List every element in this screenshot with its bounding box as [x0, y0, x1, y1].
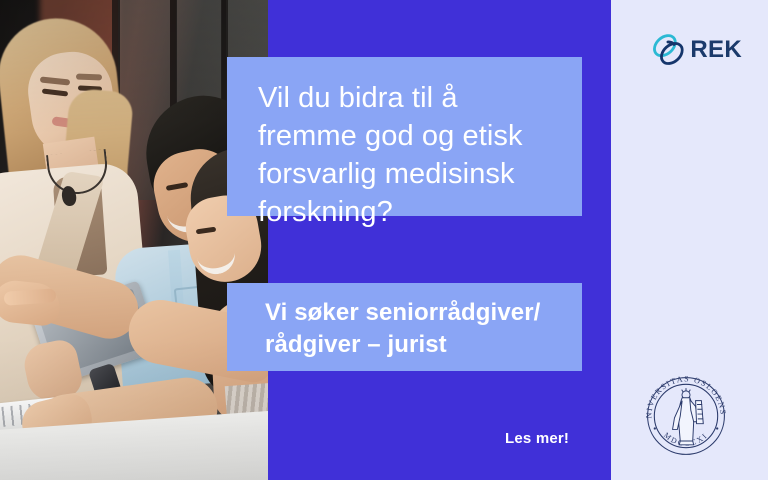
- rek-logo[interactable]: REK: [650, 28, 742, 72]
- university-seal-icon: UNIVERSITAS OSLOENSIS MDCCCXI: [638, 368, 734, 464]
- rek-wordmark: REK: [690, 38, 742, 62]
- headline-text: Vil du bidra til å fremme god og etisk f…: [258, 79, 556, 231]
- woman-blonde-brow: [76, 74, 102, 81]
- recruitment-banner: Vil du bidra til å fremme god og etisk f…: [0, 0, 768, 480]
- job-title-box: Vi søker seniorrådgiver/ rådgiver – juri…: [227, 283, 582, 371]
- interlocking-rings-icon: [650, 29, 688, 71]
- read-more-link[interactable]: Les mer!: [505, 430, 569, 447]
- job-title-text: Vi søker seniorrådgiver/ rådgiver – juri…: [265, 297, 562, 361]
- headline-box: Vil du bidra til å fremme god og etisk f…: [227, 57, 582, 216]
- uio-seal: UNIVERSITAS OSLOENSIS MDCCCXI: [638, 368, 734, 464]
